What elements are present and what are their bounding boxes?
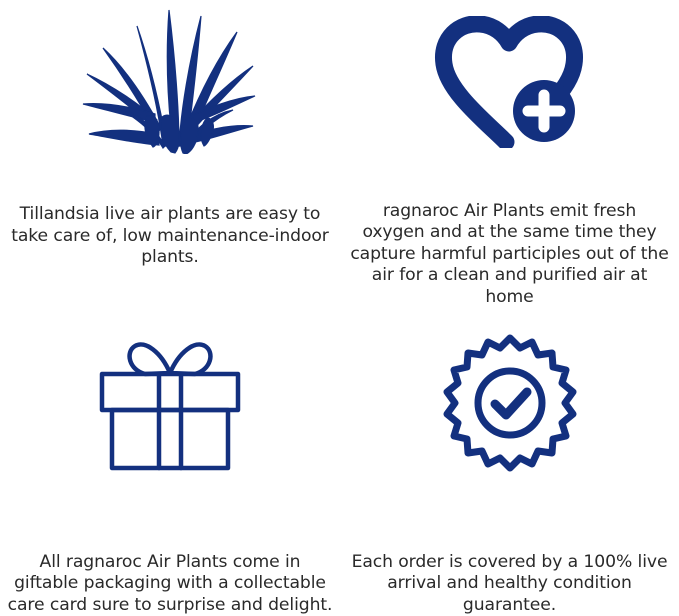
- feature-caption: Tillandsia live air plants are easy to t…: [5, 204, 335, 269]
- guarantee-seal-icon-wrapper: [340, 308, 679, 498]
- gift-lid: [102, 374, 238, 410]
- seal-inner-circle: [478, 371, 542, 435]
- seal-starburst: [447, 338, 573, 468]
- feature-caption: ragnaroc Air Plants emit fresh oxygen an…: [350, 201, 670, 309]
- feature-caption: Each order is covered by a 100% live arr…: [347, 552, 672, 616]
- feature-card-guarantee: Each order is covered by a 100% live arr…: [340, 308, 679, 616]
- bow-left-loop: [130, 344, 170, 374]
- gift-box-icon: [93, 330, 247, 472]
- check-icon: [495, 392, 527, 415]
- heart-plus-icon-wrapper: [340, 0, 679, 161]
- feature-card-gift-packaging: All ragnaroc Air Plants come in giftable…: [0, 308, 340, 616]
- gift-box-icon-wrapper: [0, 308, 340, 498]
- feature-grid: Tillandsia live air plants are easy to t…: [0, 0, 679, 616]
- heart-plus-icon: [434, 16, 586, 148]
- guarantee-seal-icon: [442, 334, 578, 472]
- air-plant-icon: [81, 4, 259, 154]
- bow-right-loop: [170, 344, 210, 374]
- feature-caption: All ragnaroc Air Plants come in giftable…: [8, 552, 333, 616]
- feature-card-air-plant: Tillandsia live air plants are easy to t…: [0, 0, 340, 308]
- feature-card-air-quality: ragnaroc Air Plants emit fresh oxygen an…: [340, 0, 679, 308]
- air-plant-icon-wrapper: [0, 0, 340, 164]
- gift-body: [112, 410, 228, 468]
